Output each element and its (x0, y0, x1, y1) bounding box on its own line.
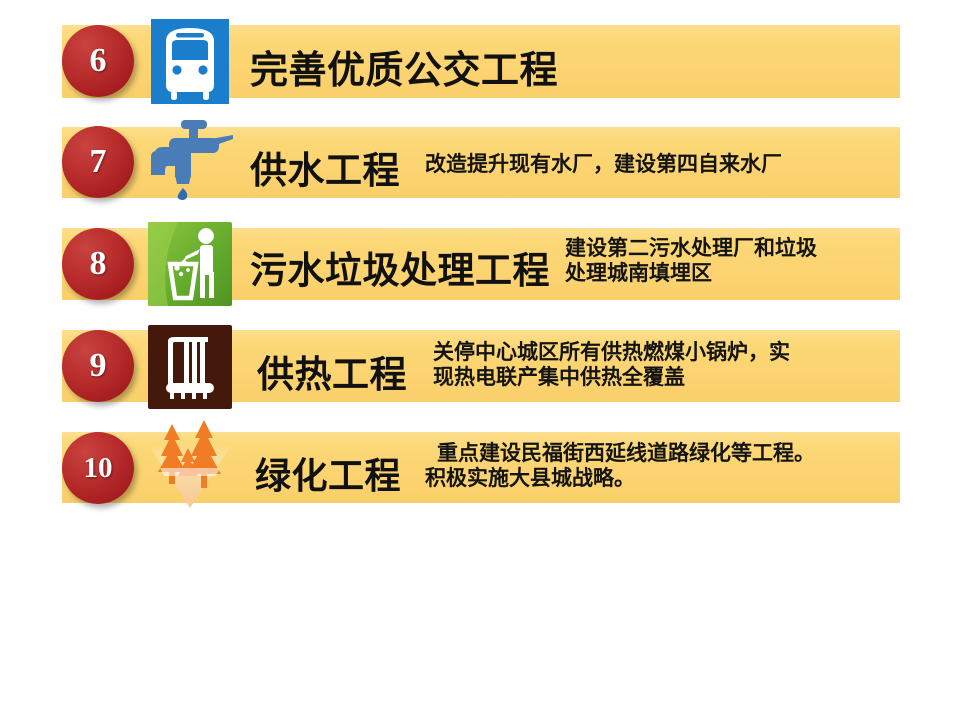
row-number-label: 8 (90, 245, 107, 283)
row-title: 绿化工程 (255, 447, 401, 499)
row-number-label: 6 (90, 42, 107, 80)
row-title: 供水工程 (250, 140, 400, 194)
row-description-line: 改造提升现有水厂，建设第四自来水厂 (425, 152, 782, 177)
row-description-line: 重点建设民福街西延线道路绿化等工程。 (425, 441, 815, 466)
row-description-line: 关停中心城区所有供热燃煤小锅炉，实 (433, 340, 790, 365)
row-number-label: 10 (84, 452, 113, 485)
row-description: 建设第二污水处理厂和垃圾 处理城南填埋区 (565, 236, 817, 286)
radiator-icon (148, 325, 232, 409)
row-description-line: 建设第二污水处理厂和垃圾 (565, 236, 817, 261)
faucet-icon (145, 118, 237, 200)
row-number-badge[interactable]: 7 (62, 126, 134, 198)
slide-canvas: 6 完善优质公交工程 7 (0, 0, 960, 720)
bus-icon (151, 19, 229, 104)
row-title: 供热工程 (257, 344, 407, 398)
row-number-badge[interactable]: 9 (62, 330, 134, 402)
row-number-badge[interactable]: 10 (62, 432, 134, 504)
litter-bin-icon (148, 222, 232, 306)
row-title: 污水垃圾处理工程 (250, 240, 550, 294)
row-description-line: 积极实施大县城战略。 (425, 466, 815, 491)
pine-trees-icon (142, 418, 238, 513)
row-number-badge[interactable]: 8 (62, 228, 134, 300)
row-description: 重点建设民福街西延线道路绿化等工程。 积极实施大县城战略。 (425, 441, 815, 491)
row-number-label: 7 (90, 143, 107, 181)
row-description-line: 现热电联产集中供热全覆盖 (433, 365, 790, 390)
row-number-badge[interactable]: 6 (62, 25, 134, 97)
row-description: 改造提升现有水厂，建设第四自来水厂 (425, 152, 782, 177)
row-title: 完善优质公交工程 (250, 39, 558, 94)
row-description-line: 处理城南填埋区 (565, 261, 817, 286)
row-description: 关停中心城区所有供热燃煤小锅炉，实 现热电联产集中供热全覆盖 (433, 340, 790, 390)
row-number-label: 9 (90, 347, 107, 385)
